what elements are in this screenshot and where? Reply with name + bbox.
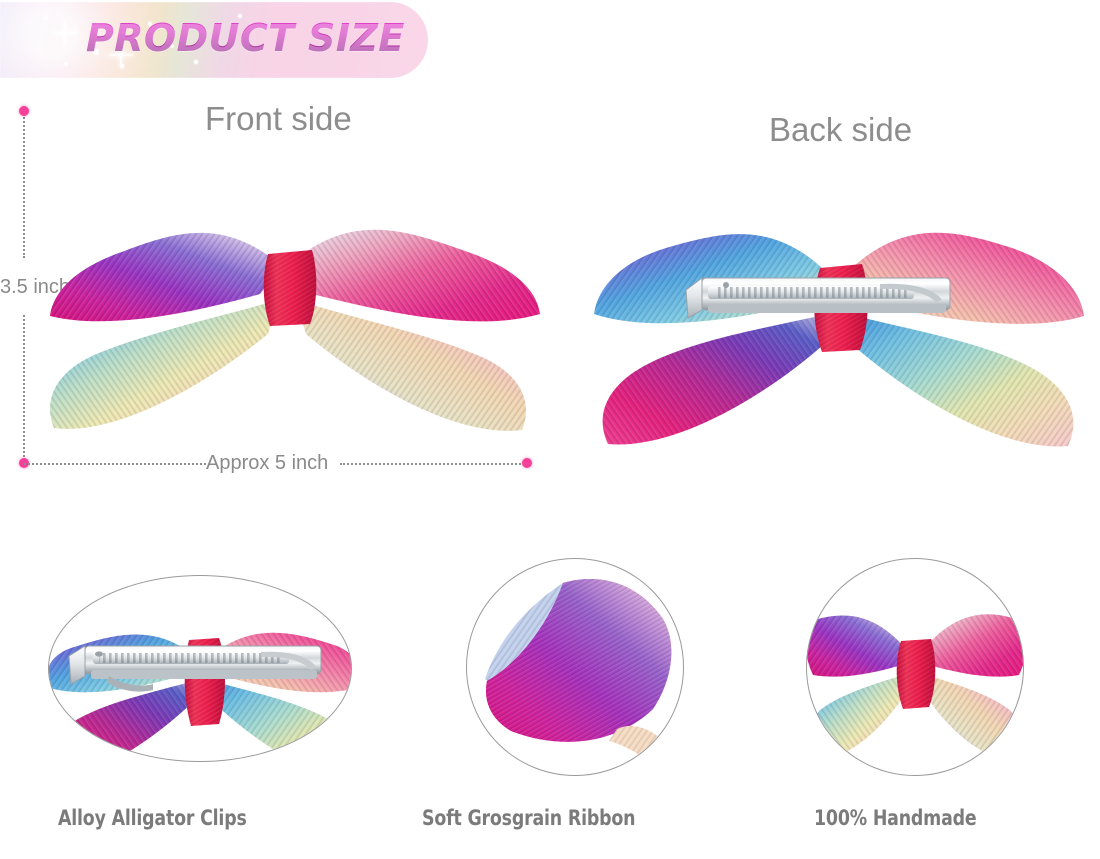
width-guide-line-left	[24, 463, 206, 465]
ribbon-texture-closeup	[485, 579, 677, 773]
page-title: PRODUCT SIZE	[86, 16, 405, 60]
detail-caption-handmade: 100% Handmade	[814, 806, 977, 830]
full-bow-closeup	[807, 614, 1023, 759]
sparkle-star-icon	[52, 20, 78, 46]
detail-ellipse-alligator-clip	[48, 575, 352, 762]
width-guide-line-right	[340, 463, 528, 465]
bow-petal-bottom-left	[603, 314, 828, 444]
bow-center-knot	[264, 250, 317, 326]
height-guide-endpoint-top	[19, 106, 29, 116]
alligator-clip	[686, 278, 950, 318]
back-side-bow-image	[580, 128, 1090, 468]
bow-petal-top-left	[50, 233, 282, 321]
front-side-bow-image	[20, 118, 540, 458]
bow-petal-bottom-right	[848, 314, 1073, 446]
detail-circle-handmade-bow	[806, 558, 1024, 776]
bow-petal-top-right	[288, 230, 540, 322]
detail-caption-alloy-alligator-clips: Alloy Alligator Clips	[58, 806, 247, 830]
detail-circle-grosgrain-ribbon	[466, 558, 684, 776]
width-guide-endpoint-right	[522, 458, 532, 468]
detail-caption-soft-grosgrain-ribbon: Soft Grosgrain Ribbon	[422, 806, 635, 830]
